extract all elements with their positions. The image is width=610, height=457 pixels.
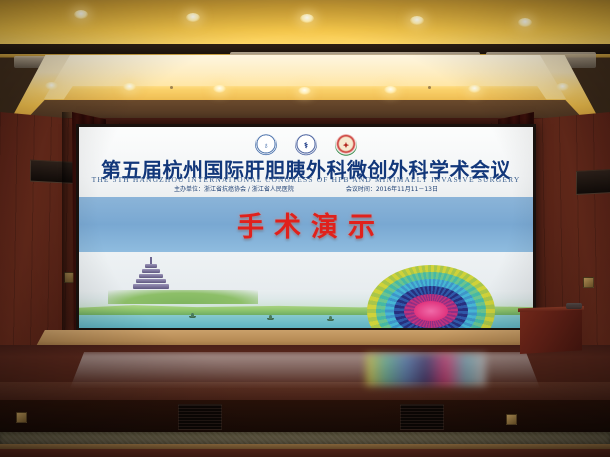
stage-outlet-plate[interactable] xyxy=(16,412,27,423)
stage-outlet-plate[interactable] xyxy=(506,414,517,425)
banner-logo-row: ♁ ⚕ ✦ xyxy=(79,134,533,156)
curtain-shadow-left xyxy=(62,112,72,358)
ripple-core xyxy=(414,301,448,321)
rainbow-ripple-graphic xyxy=(367,245,495,311)
podium-equipment xyxy=(566,303,582,309)
lake-boat xyxy=(267,315,274,320)
lake-boat xyxy=(189,313,196,318)
ceiling-downlight xyxy=(518,18,532,27)
ceiling-downlight xyxy=(410,16,424,25)
banner-title-english: THE 5TH HANGZHOU INTERNATIONAL CONGRESS … xyxy=(79,175,533,184)
wall-outlet-plate[interactable] xyxy=(583,277,594,288)
ceiling-downlight xyxy=(556,83,569,91)
banner-subline: 主办单位：浙江省抗癌协会 / 浙江省人民医院 会议时间：2016年11月11－1… xyxy=(79,184,533,193)
stage-podium-table[interactable] xyxy=(520,308,582,354)
led-screen[interactable]: ♁ ⚕ ✦ 第五届杭州国际肝胆胰外科微创外科学术会议 THE 5TH HANGZ… xyxy=(79,127,533,328)
leifeng-pagoda xyxy=(132,258,170,298)
pagoda-tier xyxy=(145,264,157,268)
ceiling-downlight xyxy=(300,14,314,23)
ceiling-downlight xyxy=(45,82,58,90)
banner-main-title: 手术演示 xyxy=(79,205,533,244)
ceiling-downlight xyxy=(186,13,200,22)
wall-air-grille xyxy=(576,169,610,195)
foreground-floor xyxy=(0,449,610,457)
pagoda-tier xyxy=(142,269,160,273)
pagoda-hill xyxy=(108,290,258,304)
ceiling-fixing-screw xyxy=(428,86,431,89)
stage-front-face xyxy=(0,400,610,436)
stage-face-vent xyxy=(178,404,222,430)
ceiling-downlight xyxy=(123,83,136,91)
pagoda-tier xyxy=(139,274,163,278)
association-emblem-blue-icon: ♁ xyxy=(255,134,277,156)
pagoda-tier xyxy=(133,284,169,289)
ceiling-downlight xyxy=(298,87,311,95)
stage-face-vent xyxy=(400,404,444,430)
ceiling-downlight xyxy=(213,85,226,93)
ceiling-fixing-screw xyxy=(170,86,173,89)
congress-emblem-red-icon: ✦ xyxy=(335,134,357,156)
pagoda-tier xyxy=(136,279,166,283)
ceiling-downlight xyxy=(384,86,397,94)
banner-organizer: 主办单位：浙江省抗癌协会 / 浙江省人民医院 xyxy=(174,184,294,193)
hospital-emblem-navy-icon: ⚕ xyxy=(295,134,317,156)
ceiling-downlight xyxy=(468,85,481,93)
lake-boat xyxy=(327,316,334,321)
ceiling-downlight xyxy=(74,10,88,19)
auditorium-photo: ♁ ⚕ ✦ 第五届杭州国际肝胆胰外科微创外科学术会议 THE 5TH HANGZ… xyxy=(0,0,610,457)
banner-date: 会议时间：2016年11月11－13日 xyxy=(346,184,438,193)
